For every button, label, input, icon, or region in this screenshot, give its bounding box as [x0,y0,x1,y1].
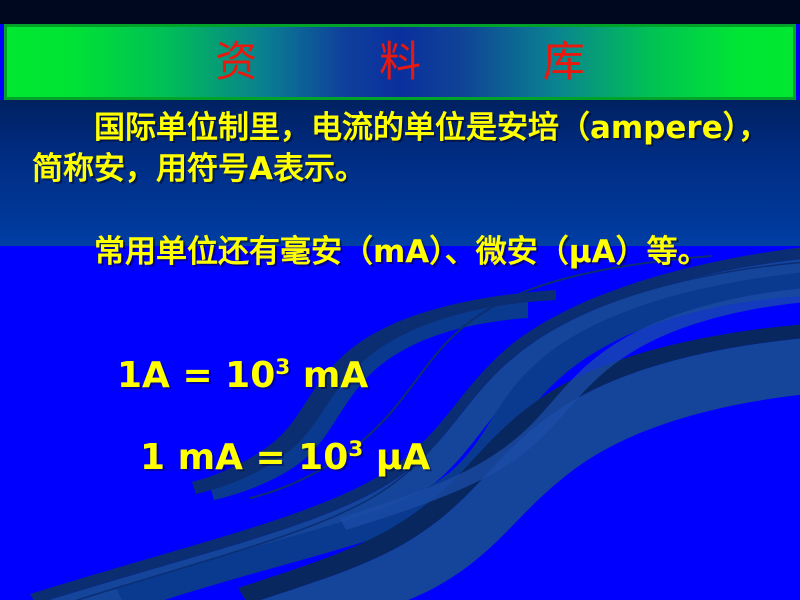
formula-amp-to-milliamp: 1A = 103 mA [117,358,368,394]
formula-1-exponent: 3 [275,355,290,380]
formula-1-lhs: 1A = 10 [117,355,275,396]
slide-content: 国际单位制里，电流的单位是安培（ampere），简称安，用符号A表示。 常用单位… [0,0,800,600]
formula-milliamp-to-microamp: 1 mA = 103 μA [140,440,430,476]
formula-2-rhs: μA [363,437,430,478]
slide-canvas: 资 料 库 国际单位制里，电流的单位是安培（ampere），简称安，用符号A表示… [0,0,800,600]
paragraph-common-units: 常用单位还有毫安（mA）、微安（μA）等。 [32,232,774,273]
formula-2-exponent: 3 [348,437,363,462]
formula-1-rhs: mA [290,355,368,396]
paragraph-international-unit: 国际单位制里，电流的单位是安培（ampere），简称安，用符号A表示。 [32,108,774,190]
formula-2-lhs: 1 mA = 10 [140,437,348,478]
